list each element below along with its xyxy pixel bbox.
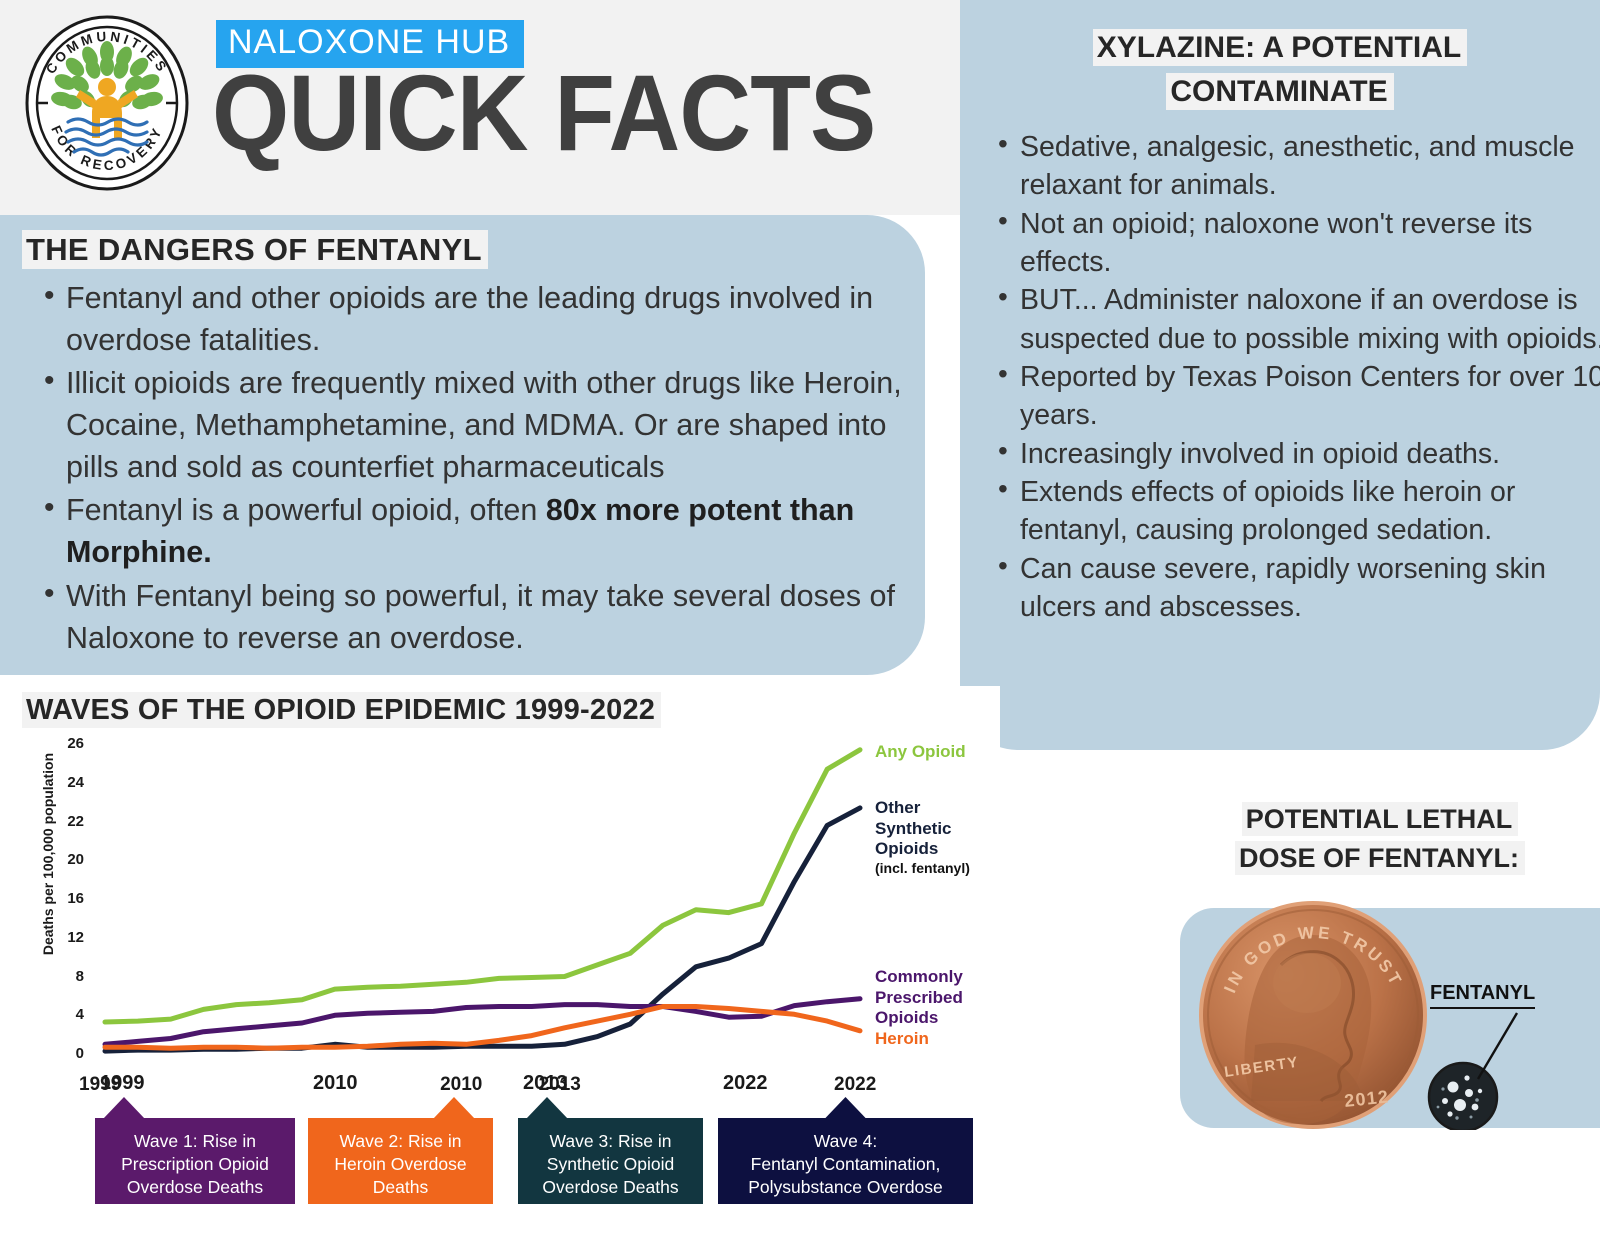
list-item: Illicit opioids are frequently mixed wit… bbox=[44, 362, 944, 488]
list-item: Extends effects of opioids like heroin o… bbox=[998, 473, 1600, 550]
infographic-page: COMMUNITIES FOR RECOVERY bbox=[0, 0, 1600, 1237]
lethal-dose-heading: POTENTIAL LETHAL DOSE OF FENTANYL: bbox=[1180, 800, 1580, 878]
chart-line-any-opioid bbox=[105, 750, 860, 1022]
wave-banner-line: Prescription Opioid bbox=[95, 1153, 295, 1176]
wave-year-label: 2022 bbox=[723, 1072, 768, 1095]
dangers-bullet-list: Fentanyl and other opioids are the leadi… bbox=[10, 277, 944, 660]
chart-legend-sublabel: (incl. fentanyl) bbox=[875, 860, 1000, 877]
chart-y-tick: 24 bbox=[52, 774, 84, 791]
chart-legend-label: Commonly bbox=[875, 967, 963, 986]
list-item: Fentanyl is a powerful opioid, often 80x… bbox=[44, 489, 944, 573]
chart-title: WAVES OF THE OPIOID EPIDEMIC 1999-2022 bbox=[22, 694, 661, 727]
chart-y-tick: 12 bbox=[52, 929, 84, 946]
list-item: Sedative, analgesic, anesthetic, and mus… bbox=[998, 128, 1600, 205]
chart-y-tick: 16 bbox=[52, 890, 84, 907]
wave-banner-line: Fentanyl Contamination, bbox=[718, 1153, 973, 1176]
xylazine-section-title: XYLAZINE: A POTENTIAL CONTAMINATE bbox=[960, 26, 1600, 113]
chart-x-tick: 2022 bbox=[834, 1074, 876, 1096]
wave-banner-line: Polysubstance Overdose bbox=[718, 1176, 973, 1199]
wave-banner: Wave 4:Fentanyl Contamination,Polysubsta… bbox=[718, 1118, 973, 1204]
chart-y-tick: 4 bbox=[52, 1006, 84, 1023]
wave-banner-line: Heroin Overdose bbox=[308, 1153, 493, 1176]
list-item: Fentanyl and other opioids are the leadi… bbox=[44, 277, 944, 361]
chart-y-tick: 22 bbox=[52, 813, 84, 830]
chart-legend-label: Prescribed bbox=[875, 988, 963, 1007]
wave-banner-line: Overdose Deaths bbox=[95, 1176, 295, 1199]
wave-year-label: 2010 bbox=[313, 1072, 358, 1095]
list-item: Not an opioid; naloxone won't reverse it… bbox=[998, 205, 1600, 282]
list-item: Increasingly involved in opioid deaths. bbox=[998, 435, 1600, 473]
logo-seal-icon: COMMUNITIES FOR RECOVERY bbox=[18, 14, 196, 192]
list-item: BUT... Administer naloxone if an overdos… bbox=[998, 281, 1600, 358]
dangers-section-title: THE DANGERS OF FENTANYL bbox=[22, 232, 488, 268]
chart-legend-label: Other Synthetic bbox=[875, 798, 952, 838]
chart-legend-label: Heroin bbox=[875, 1029, 929, 1048]
header-band: COMMUNITIES FOR RECOVERY bbox=[0, 0, 960, 215]
chart-plot-area bbox=[0, 734, 1000, 1074]
chart-y-tick: 8 bbox=[52, 968, 84, 985]
wave-banner: Wave 3: Rise inSynthetic OpioidOverdose … bbox=[518, 1118, 703, 1204]
chart-y-tick: 20 bbox=[52, 851, 84, 868]
xylazine-bullet-list: Sedative, analgesic, anesthetic, and mus… bbox=[968, 128, 1600, 626]
dangers-of-fentanyl-panel: THE DANGERS OF FENTANYL Fentanyl and oth… bbox=[0, 215, 925, 675]
page-title: QUICK FACTS bbox=[212, 56, 875, 169]
chart-legend-item: CommonlyPrescribedOpioids bbox=[875, 967, 963, 1029]
chart-legend-label: Opioids bbox=[875, 1008, 938, 1027]
list-item: Can cause severe, rapidly worsening skin… bbox=[998, 550, 1600, 627]
wave-banner: Wave 2: Rise inHeroin OverdoseDeaths bbox=[308, 1118, 493, 1204]
chart-legend-item: Any Opioid bbox=[875, 742, 966, 763]
wave-year-label: 1999 bbox=[100, 1072, 145, 1095]
chart-svg bbox=[0, 734, 1000, 1074]
chart-legend-item: Other SyntheticOpioids(incl. fentanyl) bbox=[875, 798, 1000, 877]
fentanyl-callout-label: FENTANYL bbox=[1430, 982, 1535, 1009]
list-item: With Fentanyl being so powerful, it may … bbox=[44, 575, 944, 659]
wave-banner: Wave 1: Rise inPrescription OpioidOverdo… bbox=[95, 1118, 295, 1204]
xylazine-panel: XYLAZINE: A POTENTIAL CONTAMINATE Sedati… bbox=[960, 0, 1600, 750]
wave-banner-line: Wave 1: Rise in bbox=[95, 1130, 295, 1153]
list-item: Reported by Texas Poison Centers for ove… bbox=[998, 358, 1600, 435]
communities-for-recovery-logo: COMMUNITIES FOR RECOVERY bbox=[18, 14, 196, 192]
penny-figure: IN GOD WE TRUST LIBERTY 2012 bbox=[1195, 895, 1600, 1130]
fentanyl-callout-leader-line bbox=[1478, 1013, 1517, 1079]
chart-line-heroin bbox=[105, 1007, 860, 1049]
chart-y-tick: 26 bbox=[52, 735, 84, 752]
chart-x-tick: 2010 bbox=[440, 1074, 482, 1096]
chart-y-tick: 0 bbox=[52, 1045, 84, 1062]
wave-banner-line: Wave 3: Rise in bbox=[518, 1130, 703, 1153]
wave-banner-line: Overdose Deaths bbox=[518, 1176, 703, 1199]
chart-legend-item: Heroin bbox=[875, 1029, 929, 1050]
wave-year-label: 2013 bbox=[523, 1072, 568, 1095]
wave-banner-line: Synthetic Opioid bbox=[518, 1153, 703, 1176]
chart-legend-label: Any Opioid bbox=[875, 742, 966, 761]
wave-banner-line: Wave 4: bbox=[718, 1130, 973, 1153]
chart-legend-label: Opioids bbox=[875, 839, 938, 858]
wave-banner-line: Wave 2: Rise in bbox=[308, 1130, 493, 1153]
coin-year-text: 2012 bbox=[1343, 1086, 1390, 1111]
wave-banner-line: Deaths bbox=[308, 1176, 493, 1199]
penny-with-fentanyl-dose-icon: IN GOD WE TRUST LIBERTY 2012 bbox=[1195, 895, 1600, 1130]
